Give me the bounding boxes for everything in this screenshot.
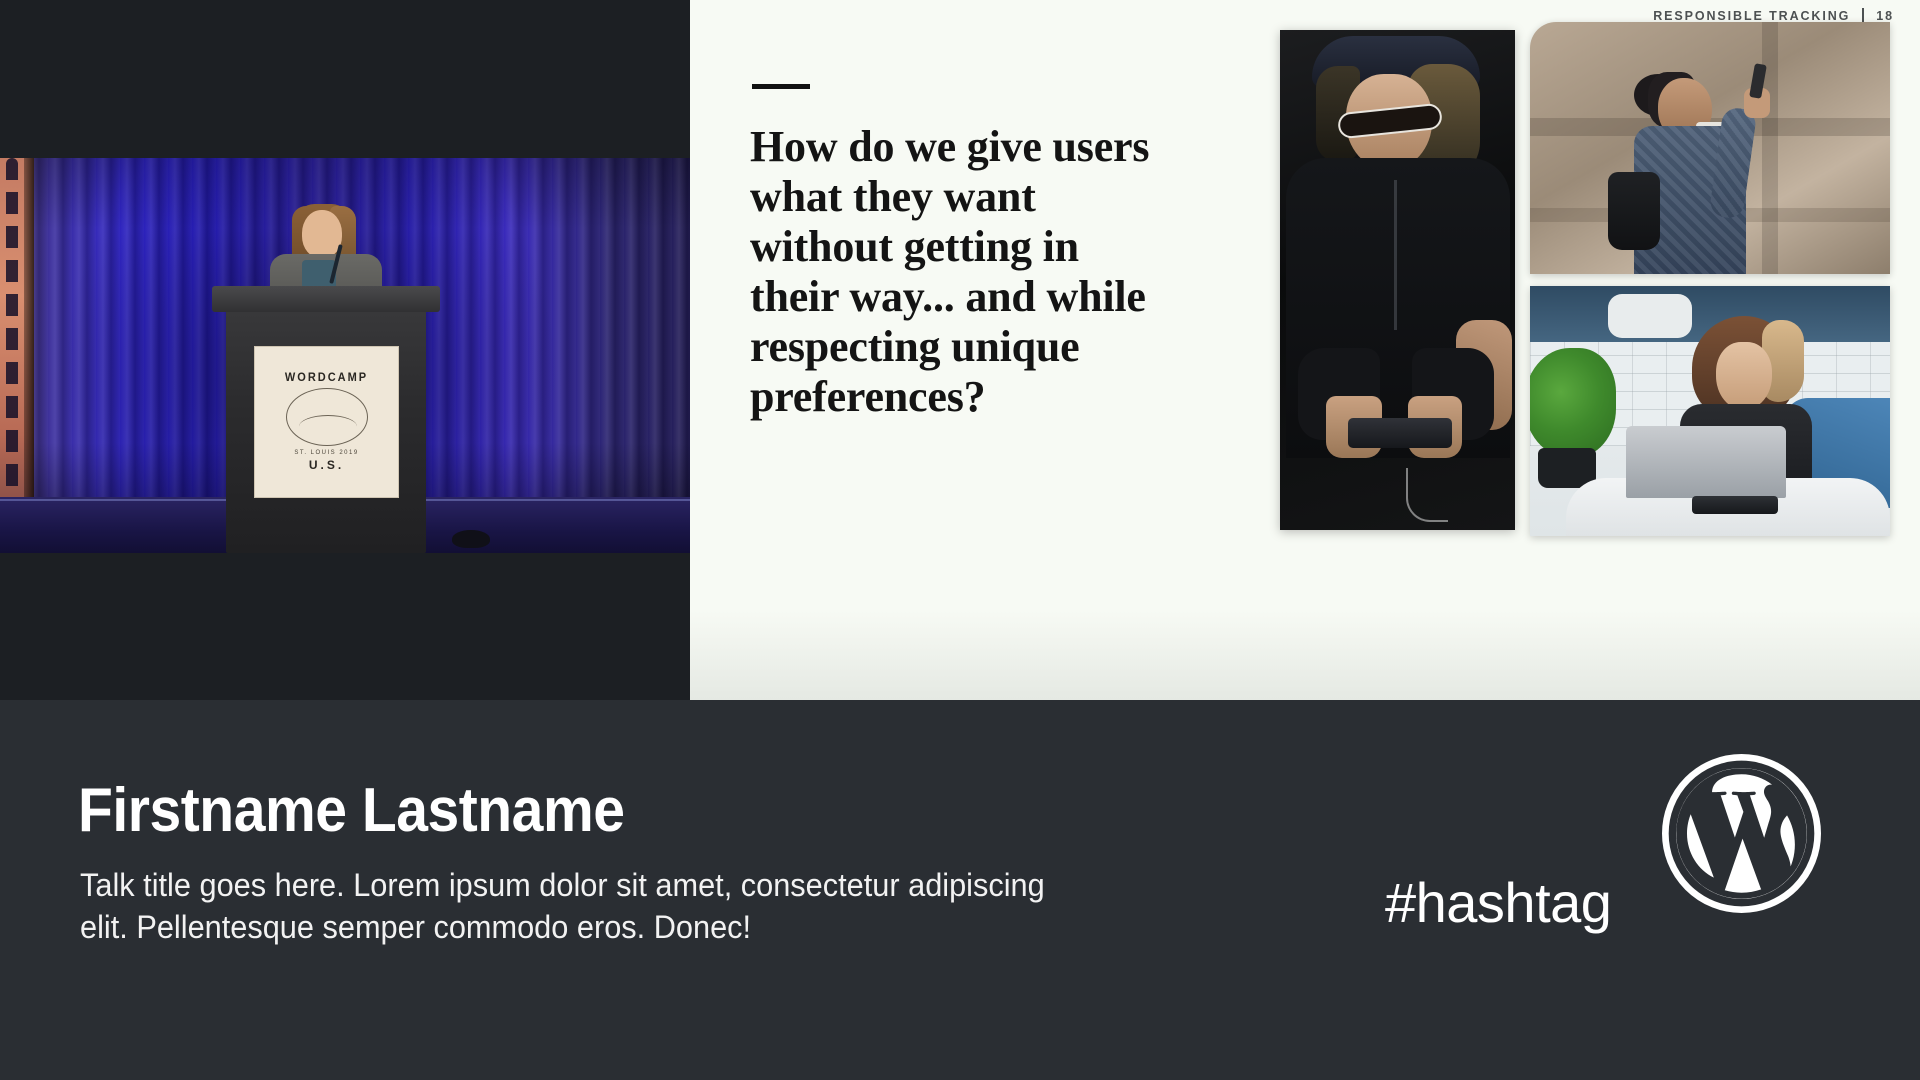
speaker-name: Firstname Lastname	[78, 775, 624, 846]
pillow	[1608, 294, 1692, 338]
photo-woman-photographing-ruins	[1530, 22, 1890, 274]
slide-header: RESPONSIBLE TRACKING 18	[1653, 8, 1894, 23]
photo-woman-with-laptop	[1530, 286, 1890, 536]
stage-floor-object	[452, 530, 490, 548]
podium-sign-emblem	[286, 388, 368, 446]
face	[1716, 342, 1772, 410]
quote-dash-rule	[752, 84, 810, 89]
speaker-video-panel[interactable]: WORDCAMP ST. LOUIS 2019 U.S.	[0, 0, 690, 700]
slide-bottom-gradient	[690, 610, 1920, 700]
podium: WORDCAMP ST. LOUIS 2019 U.S.	[226, 298, 426, 553]
slide-panel[interactable]: RESPONSIBLE TRACKING 18 How do we give u…	[690, 0, 1920, 700]
earphone-cord	[1406, 468, 1448, 522]
presentation-recording-view: WORDCAMP ST. LOUIS 2019 U.S. RESPONSIBLE…	[0, 0, 1920, 1080]
laptop	[1626, 426, 1786, 498]
presentation-footer-bar: Firstname Lastname Talk title goes here.…	[0, 700, 1920, 1080]
wordpress-logo	[1660, 752, 1823, 915]
photo-man-in-black-on-phone	[1280, 30, 1515, 530]
backpack	[1608, 172, 1660, 250]
slide-quote-text: How do we give users what they want with…	[750, 122, 1170, 422]
slide-section-label: RESPONSIBLE TRACKING	[1653, 9, 1850, 23]
podium-sign-top-text: WORDCAMP	[285, 372, 368, 385]
stage-truss	[0, 158, 34, 553]
video-letterbox-top	[0, 0, 690, 158]
houseplant	[1530, 348, 1616, 458]
slide-page-number: 18	[1876, 9, 1894, 23]
podium-sign-middle-text: ST. LOUIS 2019	[294, 450, 358, 456]
podium-top	[212, 286, 440, 312]
podium-sign: WORDCAMP ST. LOUIS 2019 U.S.	[254, 346, 399, 498]
video-letterbox-bottom	[0, 553, 690, 700]
speaker-video-frame: WORDCAMP ST. LOUIS 2019 U.S.	[0, 158, 690, 553]
talk-title: Talk title goes here. Lorem ipsum dolor …	[80, 865, 1098, 948]
slide-header-divider	[1862, 8, 1864, 23]
jacket-zipper	[1394, 180, 1397, 330]
stone-column	[1762, 22, 1778, 274]
smartphone-icon	[1348, 418, 1452, 448]
smartphone-icon	[1692, 496, 1778, 514]
event-hashtag: #hashtag	[1385, 870, 1611, 935]
podium-sign-bottom-text: U.S.	[309, 458, 344, 472]
